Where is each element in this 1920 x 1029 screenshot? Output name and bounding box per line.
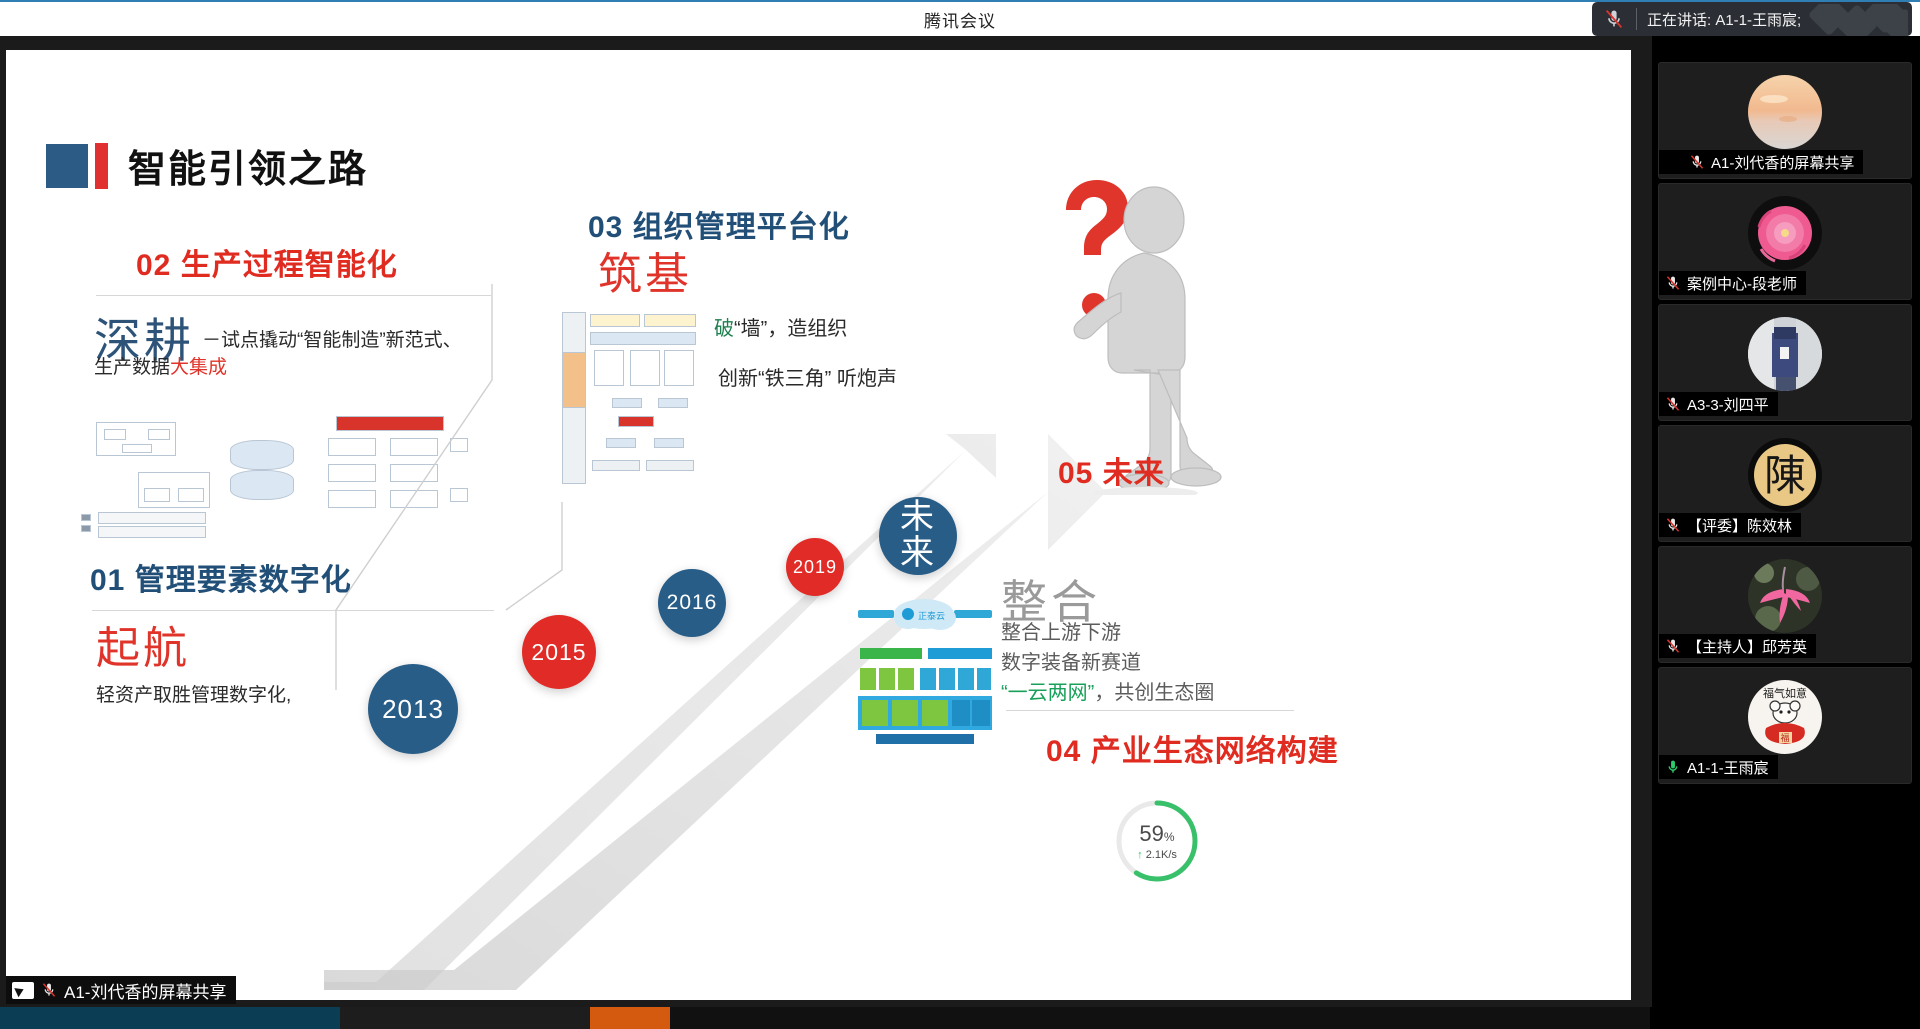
speaking-indicator: 正在讲话: A1-1-王雨宸; (1592, 2, 1912, 36)
section-02-desc-accent: 大集成 (170, 357, 227, 378)
section-02-desc-line2: 生产数据大集成 (94, 352, 227, 379)
participant-tile[interactable]: A3-3-刘四平 (1658, 304, 1912, 421)
network-percent-value: 59 (1139, 821, 1163, 846)
participant-rail[interactable]: A1-刘代香的屏幕共享 (1652, 36, 1920, 1029)
participant-namebar: 案例中心-段老师 (1659, 271, 1806, 295)
speaking-decor (1798, 4, 1908, 36)
section-04-accent-rest: ，共创生态圈 (1094, 682, 1214, 704)
diagram-cloud-ecosystem: 正泰云 (854, 590, 996, 748)
avatar: 陳 (1748, 438, 1822, 512)
participant-name: 【评委】陈效林 (1687, 515, 1792, 536)
section-01-number: 01 管理要素数字化 (90, 555, 352, 599)
section-01-keyword: 起航 (96, 612, 190, 676)
participant-tile[interactable]: 福气如意 福 (1658, 667, 1912, 784)
mic-on-icon (1664, 758, 1682, 776)
timeline-label: 2015 (531, 639, 586, 666)
mic-off-icon (1664, 516, 1682, 534)
taskbar-segment-b (340, 1007, 590, 1029)
section-01-desc: 轻资产取胜管理数字化, (96, 680, 291, 707)
mic-off-icon (1602, 7, 1626, 31)
future-char-1: 未 (900, 500, 936, 536)
future-char-2: 来 (900, 536, 936, 572)
taskbar-segment-d (670, 1007, 1650, 1029)
taskbar-strip (0, 1007, 1920, 1029)
avatar (1748, 317, 1822, 391)
network-percent: 59% (1139, 821, 1174, 847)
participant-tile[interactable]: 【主持人】邱芳英 (1658, 546, 1912, 663)
section-04-desc-line2: 数字装备新赛道 (1001, 646, 1141, 675)
section-02-desc-prefix: 生产数据 (94, 357, 170, 378)
shared-screen-stage: 智能引领之路 (0, 36, 1652, 1029)
svg-text:正泰云: 正泰云 (918, 610, 945, 621)
svg-text:福: 福 (1780, 732, 1789, 743)
taskbar-segment-a (0, 1007, 340, 1029)
network-speed: ↑ 2.1K/s (1137, 849, 1177, 861)
section-04-accent: “一云两网” (1001, 682, 1094, 704)
section-02-number: 02 生产过程智能化 (136, 240, 398, 284)
mic-off-icon (1664, 274, 1682, 292)
section-04-desc-line3: “一云两网”，共创生态圈 (1001, 676, 1214, 705)
mic-off-icon (1664, 637, 1682, 655)
svg-text:福气如意: 福气如意 (1763, 686, 1807, 700)
section-02-desc-line1: －试点撬动“智能制造”新范式、 (202, 325, 462, 352)
timeline-bubble-2015: 2015 (522, 615, 596, 689)
participant-namebar: 【主持人】邱芳英 (1659, 634, 1816, 658)
participant-tile[interactable]: 案例中心-段老师 (1658, 183, 1912, 300)
network-speed-value: 2.1K/s (1146, 849, 1177, 861)
participant-name: A1-刘代香的屏幕共享 (1711, 152, 1854, 173)
participant-tile[interactable]: A1-刘代香的屏幕共享 (1658, 62, 1912, 179)
timeline-bubble-2013: 2013 (368, 664, 458, 754)
timeline-bubble-2016: 2016 (658, 569, 726, 637)
timeline-bubble-future: 未 来 (879, 497, 957, 575)
app-title: 腾讯会议 (924, 7, 996, 32)
avatar: 福气如意 福 (1748, 680, 1822, 754)
network-percent-unit: % (1164, 830, 1175, 844)
avatar (1748, 559, 1822, 633)
screen-share-banner: A1-刘代香的屏幕共享 (6, 976, 236, 1004)
diagram-org-platform (562, 312, 698, 484)
participant-name: A3-3-刘四平 (1687, 394, 1769, 415)
participant-tile[interactable]: 陳 【评委】陈效林 (1658, 425, 1912, 542)
share-banner-label: A1-刘代香的屏幕共享 (64, 978, 226, 1003)
svg-text:陳: 陳 (1764, 454, 1806, 500)
participant-namebar: 【评委】陈效林 (1659, 513, 1801, 537)
timeline-label: 2016 (667, 591, 718, 615)
timeline-label: 2019 (793, 557, 837, 578)
section-03-keyword: 筑基 (598, 238, 692, 302)
3d-question-figure (1026, 165, 1236, 495)
network-speed-indicator: 59% ↑ 2.1K/s (1111, 795, 1203, 887)
mic-off-icon (1664, 395, 1682, 413)
avatar (1748, 196, 1822, 270)
section-04-rule (1006, 710, 1294, 711)
page-title: 智能引领之路 (46, 138, 368, 193)
screen-share-icon (12, 982, 34, 999)
taskbar-segment-c (590, 1007, 670, 1029)
speaking-name: 正在讲话: A1-1-王雨宸; (1647, 9, 1801, 30)
timeline-label: 2013 (382, 694, 444, 725)
participant-namebar: A3-3-刘四平 (1659, 392, 1778, 416)
section-01-rule (92, 610, 494, 611)
screen-share-icon (1664, 155, 1683, 170)
section-02-rule (96, 295, 491, 296)
section-04-number: 04 产业生态网络构建 (1046, 726, 1339, 770)
participant-namebar: A1-刘代香的屏幕共享 (1659, 150, 1863, 174)
participant-name: 案例中心-段老师 (1687, 273, 1797, 294)
upload-arrow-icon: ↑ (1137, 849, 1143, 861)
section-03-bullet-2: 创新“铁三角” 听炮声 (718, 362, 897, 391)
participant-namebar: A1-1-王雨宸 (1659, 755, 1778, 779)
mic-off-icon (1688, 153, 1706, 171)
diagram-data-platform (78, 418, 468, 543)
section-03-bullet-1: 破“墙”，造组织 (714, 312, 847, 341)
participant-name: 【主持人】邱芳英 (1687, 636, 1807, 657)
taskbar-segment-e (1650, 1007, 1920, 1029)
slide-title-text: 智能引领之路 (128, 138, 368, 193)
title-blue-block (46, 144, 88, 188)
meeting-window: 腾讯会议 正在讲话: A1-1-王雨宸; 智能引领之路 (0, 0, 1920, 1029)
presentation-slide: 智能引领之路 (6, 50, 1631, 1000)
timeline-bubble-2019: 2019 (786, 538, 844, 596)
title-red-bar (95, 143, 108, 189)
section-05-number: 05 未来 (1058, 448, 1165, 492)
speaking-divider (1636, 8, 1637, 30)
participant-name: A1-1-王雨宸 (1687, 757, 1769, 778)
avatar (1748, 75, 1822, 149)
mic-off-icon (40, 981, 58, 999)
